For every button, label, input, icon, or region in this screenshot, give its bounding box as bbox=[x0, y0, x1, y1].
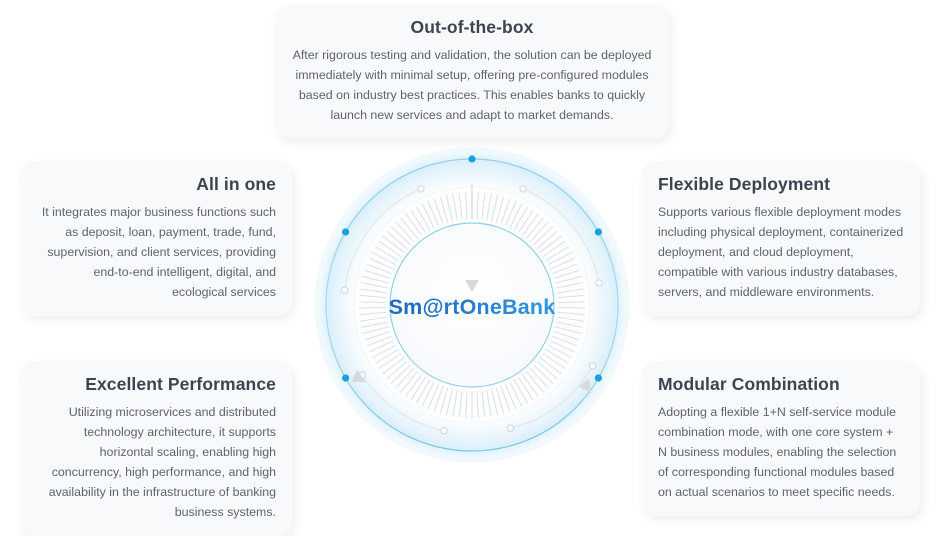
feature-card-title: Flexible Deployment bbox=[658, 174, 904, 196]
tick-mark bbox=[359, 307, 386, 308]
feature-card-title: Modular Combination bbox=[658, 374, 904, 396]
feature-card-flexible-deployment: Flexible Deployment Supports various fle… bbox=[642, 162, 920, 316]
orbit-rings-svg bbox=[307, 140, 637, 470]
arc-endpoint-dot bbox=[341, 287, 347, 293]
arc-endpoint-dot bbox=[441, 428, 447, 434]
arc-endpoint-dot bbox=[520, 186, 526, 192]
orbit-node-dot-upper-right bbox=[595, 228, 602, 235]
feature-card-title: All in one bbox=[36, 174, 276, 196]
feature-card-body: Supports various flexible deployment mod… bbox=[658, 202, 904, 302]
feature-card-body: Adopting a flexible 1+N self-service mod… bbox=[658, 402, 904, 502]
feature-card-out-of-the-box: Out-of-the-box After rigorous testing an… bbox=[275, 5, 669, 139]
feature-card-title: Excellent Performance bbox=[36, 374, 276, 396]
feature-card-body: It integrates major business functions s… bbox=[36, 202, 276, 302]
arc-endpoint-dot bbox=[596, 280, 602, 286]
feature-card-body: Utilizing microservices and distributed … bbox=[36, 402, 276, 523]
feature-card-excellent-performance: Excellent Performance Utilizing microser… bbox=[20, 362, 292, 536]
orbit-node-dot-upper-left bbox=[342, 228, 349, 235]
feature-card-title: Out-of-the-box bbox=[291, 17, 653, 39]
central-orbit-graphic: Sm@rtOneBank bbox=[307, 140, 637, 470]
arc-endpoint-dot bbox=[418, 186, 424, 192]
feature-card-all-in-one: All in one It integrates major business … bbox=[20, 162, 292, 316]
arc-endpoint-dot bbox=[507, 425, 513, 431]
tick-mark bbox=[558, 307, 585, 308]
feature-card-modular-combination: Modular Combination Adopting a flexible … bbox=[642, 362, 920, 516]
arc-endpoint-dot bbox=[589, 363, 595, 369]
orbit-node-dot-lower-right bbox=[595, 374, 602, 381]
tick-mark bbox=[558, 302, 585, 303]
orbit-node-dot-lower-left bbox=[342, 374, 349, 381]
orbit-node-dot-top bbox=[468, 155, 475, 162]
feature-overview-stage: Out-of-the-box After rigorous testing an… bbox=[0, 0, 941, 500]
tick-mark bbox=[359, 302, 386, 303]
core-circle bbox=[390, 223, 554, 387]
feature-card-body: After rigorous testing and validation, t… bbox=[291, 45, 653, 125]
